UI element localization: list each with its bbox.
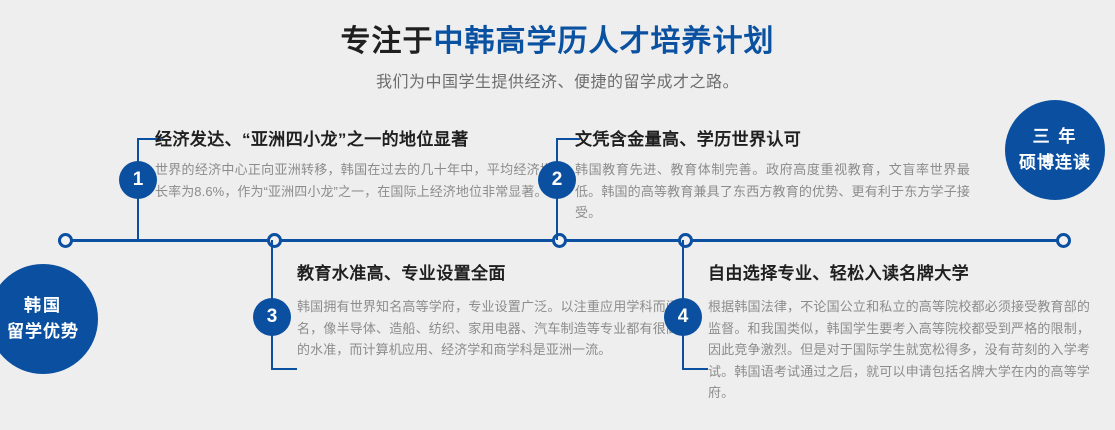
timeline-node-3 (678, 233, 693, 248)
page-title: 专注于中韩高学历人才培养计划 (0, 22, 1115, 62)
timeline-node-start (58, 233, 73, 248)
item-3-title: 教育水准高、专业设置全面 (297, 262, 506, 286)
header: 专注于中韩高学历人才培养计划 我们为中国学生提供经济、便捷的留学成才之路。 (0, 22, 1115, 95)
item-3-body: 韩国拥有世界知名高等学府，专业设置广泛。以注重应用学科而闻名，像半导体、造船、纺… (297, 296, 679, 361)
timeline-node-2 (552, 233, 567, 248)
badge-three-year-program: 三 年 硕博连读 (1005, 100, 1105, 200)
page-title-prefix: 专注于 (341, 25, 434, 58)
item-3-number: 3 (253, 298, 291, 336)
timeline-node-end (1056, 233, 1071, 248)
timeline-node-1 (267, 233, 282, 248)
item-1-body: 世界的经济中心正向亚洲转移，韩国在过去的几十年中，平均经济增长率为8.6%，作为… (155, 159, 553, 202)
item-2-body: 韩国教育先进、教育体制完善。政府高度重视教育，文盲率世界最低。韩国的高等教育兼具… (575, 159, 970, 224)
item-1-number: 1 (119, 161, 157, 199)
item-4-body: 根据韩国法律，不论国公立和私立的高等院校都必须接受教育部的监督。和我国类似，韩国… (708, 296, 1090, 404)
badge-left-line1: 韩国 (24, 293, 62, 319)
badge-left-line2: 留学优势 (7, 319, 79, 345)
page-subtitle: 我们为中国学生提供经济、便捷的留学成才之路。 (0, 71, 1115, 95)
infographic-canvas: 专注于中韩高学历人才培养计划 我们为中国学生提供经济、便捷的留学成才之路。 1 … (0, 0, 1115, 430)
badge-right-line2: 硕博连读 (1019, 150, 1091, 176)
item-2-title: 文凭含金量高、学历世界认可 (575, 128, 801, 152)
page-title-accent: 中韩高学历人才培养计划 (434, 25, 775, 58)
item-2-number: 2 (538, 161, 576, 199)
item-4-title: 自由选择专业、轻松入读名牌大学 (708, 262, 969, 286)
badge-korea-advantage: 韩国 留学优势 (0, 264, 98, 374)
badge-right-line1: 三 年 (1033, 124, 1078, 150)
item-1-title: 经济发达、“亚洲四小龙”之一的地位显著 (155, 128, 469, 152)
item-4-number: 4 (664, 298, 702, 336)
